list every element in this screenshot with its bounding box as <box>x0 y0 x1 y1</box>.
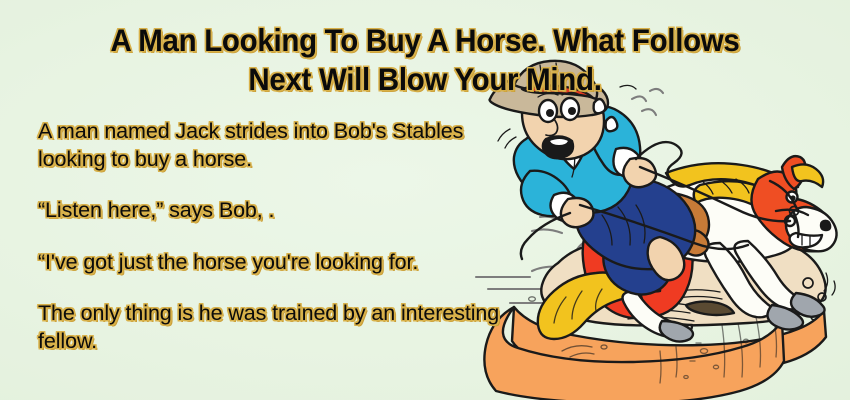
story-body: A man named Jack strides into Bob's Stab… <box>38 118 518 355</box>
story-paragraph-4: The only thing is he was trained by an i… <box>38 300 518 355</box>
meme-image: .ol { stroke:#1a1a1a; stroke-width:2.4; … <box>0 0 850 400</box>
story-paragraph-2: “Listen here,” says Bob, . <box>38 197 518 225</box>
story-paragraph-3: “I've got just the horse you're looking … <box>38 249 518 277</box>
story-paragraph-1: A man named Jack strides into Bob's Stab… <box>38 118 518 173</box>
horse-nostril <box>821 221 830 230</box>
shake-lines-icon <box>632 89 663 115</box>
cowboy-hand-2 <box>561 198 594 227</box>
cowboy-horse-illustration: .ol { stroke:#1a1a1a; stroke-width:2.4; … <box>470 55 850 400</box>
